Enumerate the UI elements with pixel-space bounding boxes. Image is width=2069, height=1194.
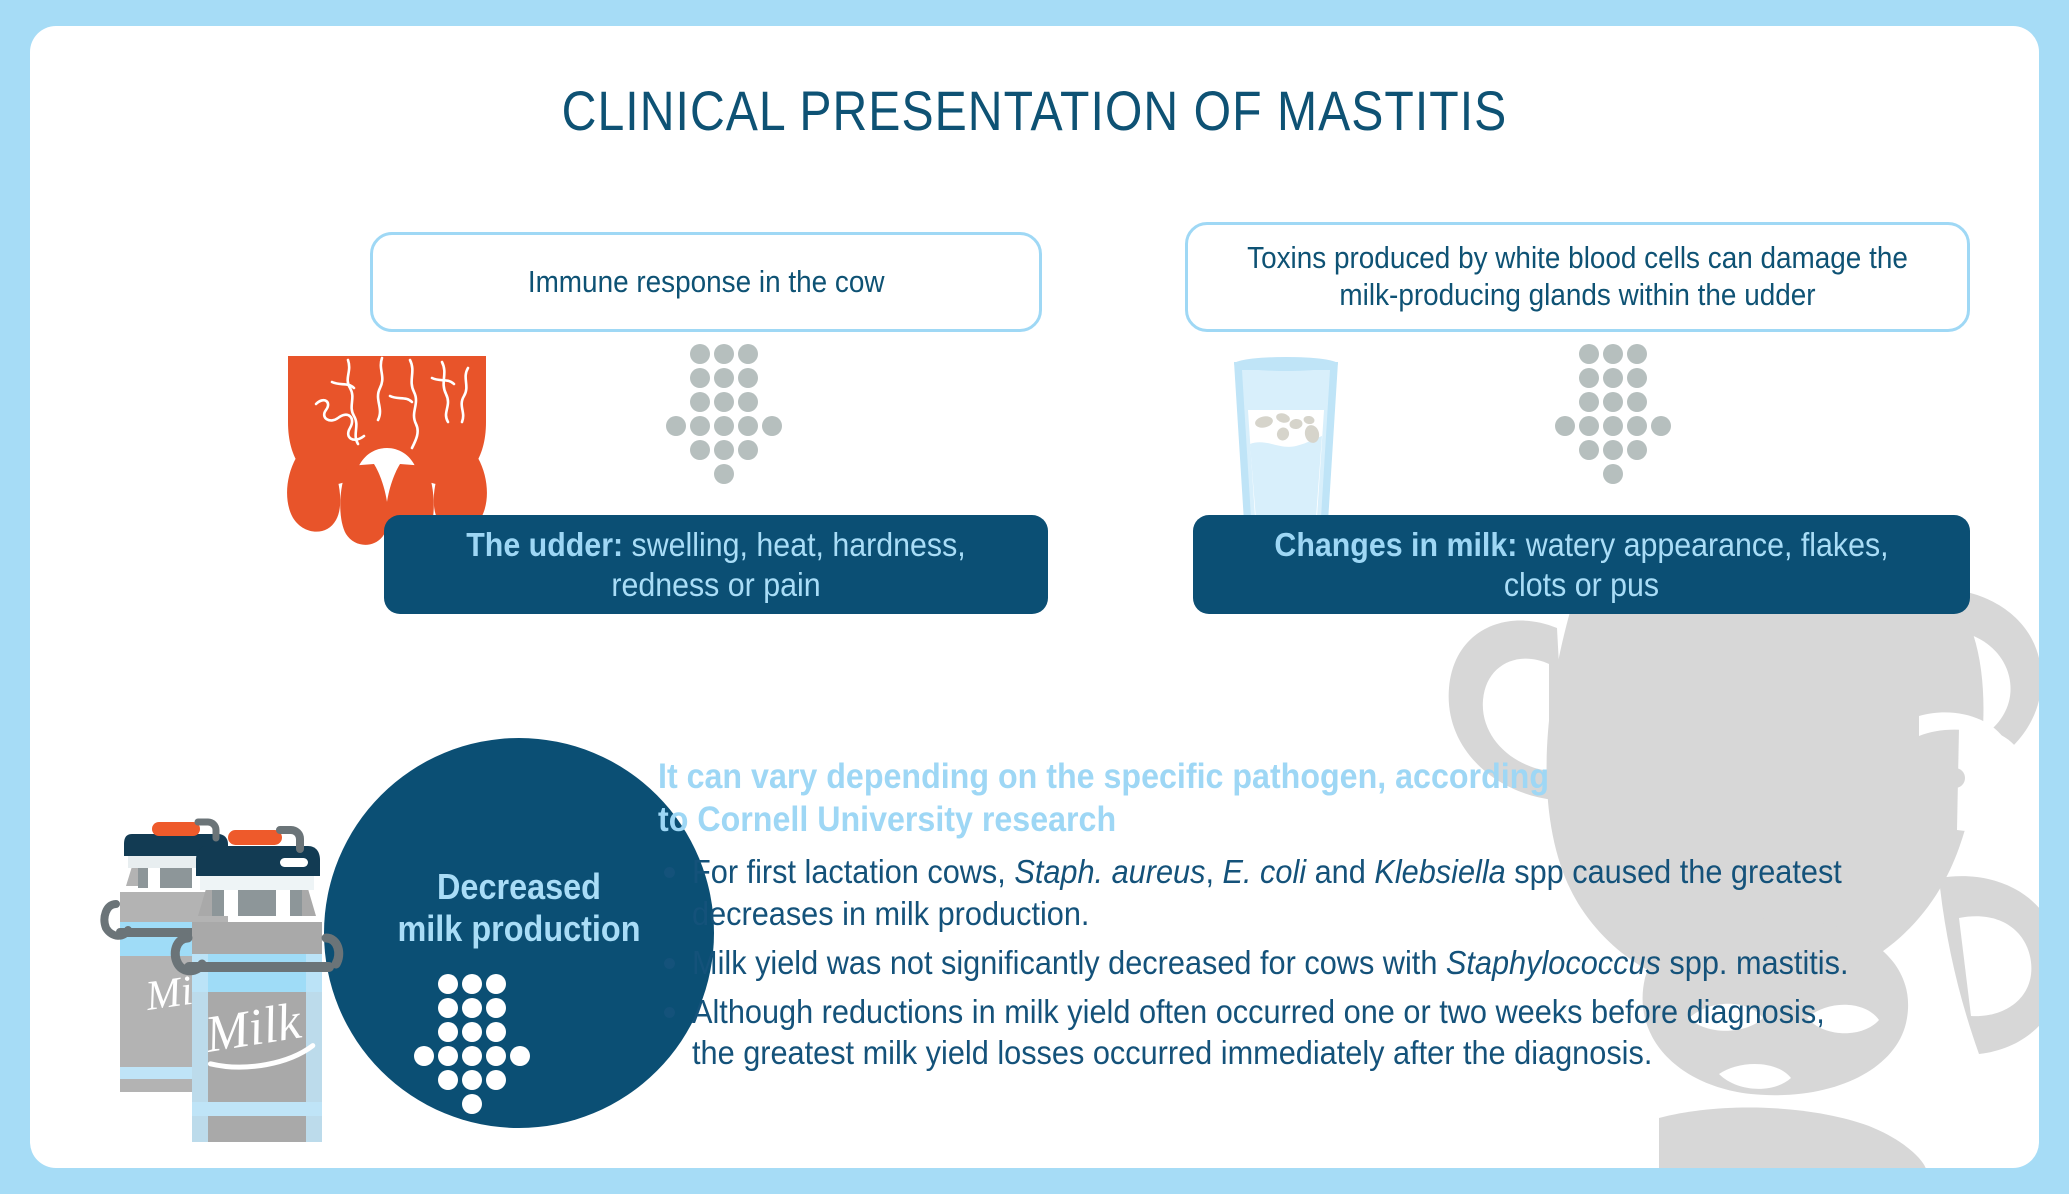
callout-right-text: Toxins produced by white blood cells can…	[1243, 240, 1912, 313]
arrow-dot	[1627, 440, 1647, 460]
arrow-dot	[738, 416, 758, 436]
arrow-dot	[1627, 368, 1647, 388]
arrow-dot	[462, 1070, 482, 1090]
list-item-text: For first lactation cows, Staph. aureus,…	[692, 851, 1855, 934]
circle-label-line2: milk production	[344, 908, 695, 950]
down-arrow-dots-white	[414, 974, 526, 1106]
arrow-dot	[1603, 344, 1623, 364]
infographic-card: CLINICAL PRESENTATION OF MASTITIS Immune…	[30, 26, 2039, 1168]
arrow-dot	[738, 368, 758, 388]
arrow-dot	[1579, 344, 1599, 364]
arrow-dot	[462, 974, 482, 994]
findings-bullet-list: For first lactation cows, Staph. aureus,…	[658, 851, 1943, 1073]
findings-headline-line1: It can vary depending on the specific pa…	[658, 756, 1840, 799]
arrow-dot	[462, 1046, 482, 1066]
arrow-dot	[1627, 344, 1647, 364]
arrow-dot	[714, 440, 734, 460]
arrow-dot	[714, 344, 734, 364]
arrow-dot	[690, 368, 710, 388]
down-arrow-dots-gray-right	[1555, 344, 1667, 476]
arrow-dot	[1555, 416, 1575, 436]
arrow-dot	[1579, 440, 1599, 460]
arrow-dot	[486, 974, 506, 994]
arrow-dot	[1651, 416, 1671, 436]
arrow-dot	[1603, 464, 1623, 484]
arrow-dot	[438, 1070, 458, 1090]
banner-udder-symptoms: The udder: swelling, heat, hardness, red…	[384, 515, 1048, 614]
callout-left-text: Immune response in the cow	[528, 264, 885, 301]
arrow-dot	[738, 344, 758, 364]
circle-label-line1: Decreased	[344, 866, 695, 908]
arrow-dot	[1603, 392, 1623, 412]
arrow-dot	[714, 416, 734, 436]
arrow-dot	[486, 1070, 506, 1090]
down-arrow-dots-gray-left	[666, 344, 778, 476]
circle-label: Decreased milk production	[324, 866, 714, 951]
arrow-dot	[690, 416, 710, 436]
arrow-dot	[762, 416, 782, 436]
species-name: Staph. aureus	[1014, 853, 1205, 890]
list-item-text: Although reductions in milk yield often …	[692, 991, 1855, 1074]
arrow-dot	[738, 440, 758, 460]
arrow-dot	[690, 392, 710, 412]
arrow-dot	[438, 998, 458, 1018]
list-item-text: Milk yield was not significantly decreas…	[692, 942, 1855, 983]
list-item: Milk yield was not significantly decreas…	[658, 942, 1943, 983]
arrow-dot	[1627, 416, 1647, 436]
arrow-dot	[462, 998, 482, 1018]
arrow-dot	[1579, 416, 1599, 436]
callout-toxins: Toxins produced by white blood cells can…	[1185, 222, 1970, 332]
callout-immune-response: Immune response in the cow	[370, 232, 1042, 332]
arrow-dot	[486, 1046, 506, 1066]
arrow-dot	[510, 1046, 530, 1066]
arrow-dot	[414, 1046, 434, 1066]
findings-text-block: It can vary depending on the specific pa…	[658, 756, 1943, 1082]
arrow-dot	[486, 1022, 506, 1042]
arrow-dot	[1579, 392, 1599, 412]
banner-left-rest: swelling, heat, hardness, redness or pai…	[611, 526, 965, 603]
arrow-dot	[714, 392, 734, 412]
arrow-dot	[690, 344, 710, 364]
banner-milk-changes: Changes in milk: watery appearance, flak…	[1193, 515, 1970, 614]
arrow-dot	[714, 368, 734, 388]
arrow-dot	[486, 998, 506, 1018]
arrow-dot	[462, 1022, 482, 1042]
milk-cans-icon: Mil Mil	[88, 782, 348, 1142]
findings-headline: It can vary depending on the specific pa…	[658, 756, 1943, 841]
page-title: CLINICAL PRESENTATION OF MASTITIS	[171, 78, 1899, 143]
arrow-dot	[438, 1046, 458, 1066]
banner-right-rest: watery appearance, flakes, clots or pus	[1504, 526, 1889, 603]
banner-left-bold: The udder:	[466, 526, 623, 563]
arrow-dot	[666, 416, 686, 436]
arrow-dot	[690, 440, 710, 460]
arrow-dot	[714, 464, 734, 484]
infographic-poster: CLINICAL PRESENTATION OF MASTITIS Immune…	[0, 0, 2069, 1194]
arrow-dot	[1603, 368, 1623, 388]
arrow-dot	[462, 1094, 482, 1114]
findings-headline-line2: to Cornell University research	[658, 799, 1840, 842]
arrow-dot	[1579, 368, 1599, 388]
list-item: Although reductions in milk yield often …	[658, 991, 1943, 1074]
arrow-dot	[438, 1022, 458, 1042]
arrow-dot	[438, 974, 458, 994]
arrow-dot	[1603, 416, 1623, 436]
arrow-dot	[738, 392, 758, 412]
species-name: Staphylococcus	[1446, 944, 1661, 981]
arrow-dot	[1603, 440, 1623, 460]
species-name: Klebsiella	[1374, 853, 1505, 890]
list-item: For first lactation cows, Staph. aureus,…	[658, 851, 1943, 934]
arrow-dot	[1627, 392, 1647, 412]
species-name: E. coli	[1223, 853, 1307, 890]
banner-right-bold: Changes in milk:	[1274, 526, 1517, 563]
